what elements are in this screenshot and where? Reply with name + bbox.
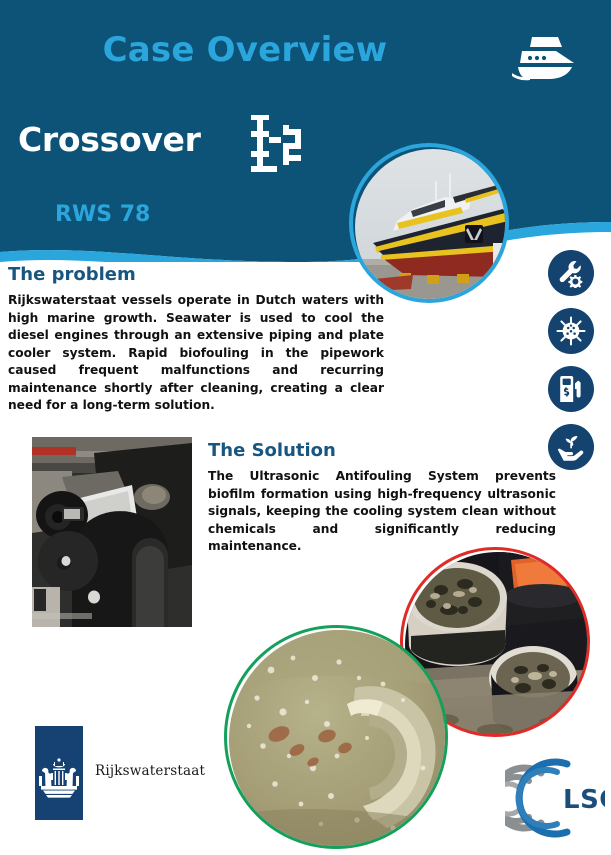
solution-heading: The Solution bbox=[208, 440, 556, 461]
solution-body: The Ultrasonic Antifouling System preven… bbox=[208, 468, 556, 556]
transducer-photo bbox=[32, 437, 192, 627]
hand-plant-icon bbox=[548, 424, 594, 470]
section-solution: The Solution The Ultrasonic Antifouling … bbox=[208, 440, 556, 556]
section-problem: The problem Rijkswaterstaat vessels oper… bbox=[8, 264, 384, 415]
vessel-code: RWS 78 bbox=[55, 202, 150, 227]
rws-coat-of-arms bbox=[35, 726, 83, 820]
problem-body: Rijkswaterstaat vessels operate in Dutch… bbox=[8, 292, 384, 415]
header-band: Case Overview Crossover bbox=[0, 0, 611, 262]
benefit-icons-list bbox=[548, 250, 594, 482]
rijkswaterstaat-logo: Rijkswaterstaat bbox=[35, 726, 235, 824]
problem-heading: The problem bbox=[8, 264, 384, 285]
pipe-interior-photo bbox=[224, 625, 448, 849]
fuel-pump-dollar-icon bbox=[548, 366, 594, 412]
yacht-icon bbox=[508, 27, 582, 83]
vessel-photo bbox=[349, 143, 509, 303]
lsc-logo: LSC bbox=[505, 755, 605, 840]
bacteria-icon bbox=[548, 308, 594, 354]
lsc-logo-text: LSC bbox=[563, 785, 605, 815]
page-title: Case Overview bbox=[0, 30, 490, 70]
wrench-gear-icon bbox=[548, 250, 594, 296]
pipe-fitting-icon bbox=[243, 113, 309, 175]
rws-logo-text: Rijkswaterstaat bbox=[95, 763, 205, 779]
product-name: Crossover bbox=[18, 120, 201, 159]
